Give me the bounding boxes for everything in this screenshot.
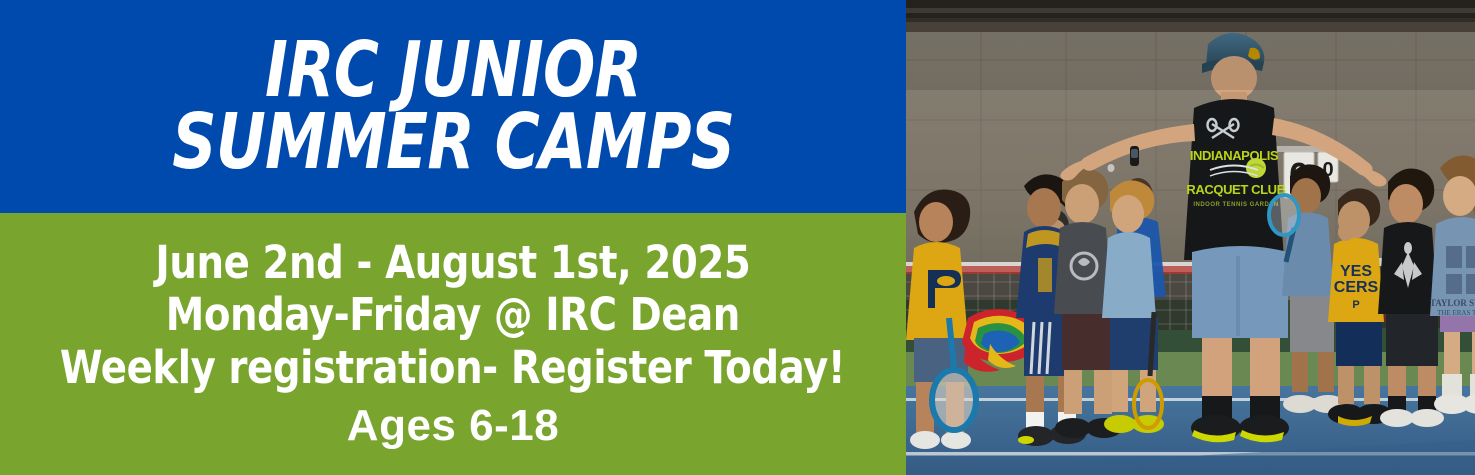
details-registration-cta: Weekly registration- Register Today! (60, 342, 845, 394)
camp-photo-illustration: 0 0 0 (906, 0, 1475, 475)
details-schedule-location: Monday-Friday @ IRC Dean (166, 289, 740, 341)
headline-line-2: SUMMER CAMPS (172, 107, 734, 179)
camp-photo: 0 0 0 (906, 0, 1475, 475)
details-age-range: Ages 6-18 (347, 394, 559, 451)
details-group: June 2nd - August 1st, 2025 Monday-Frida… (0, 213, 906, 475)
headline-line-1: IRC JUNIOR (265, 35, 641, 107)
irc-junior-summer-camps-banner: IRC JUNIOR SUMMER CAMPS June 2nd - Augus… (0, 0, 1475, 475)
details-dates: June 2nd - August 1st, 2025 (156, 237, 751, 289)
text-panel: IRC JUNIOR SUMMER CAMPS June 2nd - Augus… (0, 0, 906, 475)
headline-group: IRC JUNIOR SUMMER CAMPS (0, 0, 906, 213)
